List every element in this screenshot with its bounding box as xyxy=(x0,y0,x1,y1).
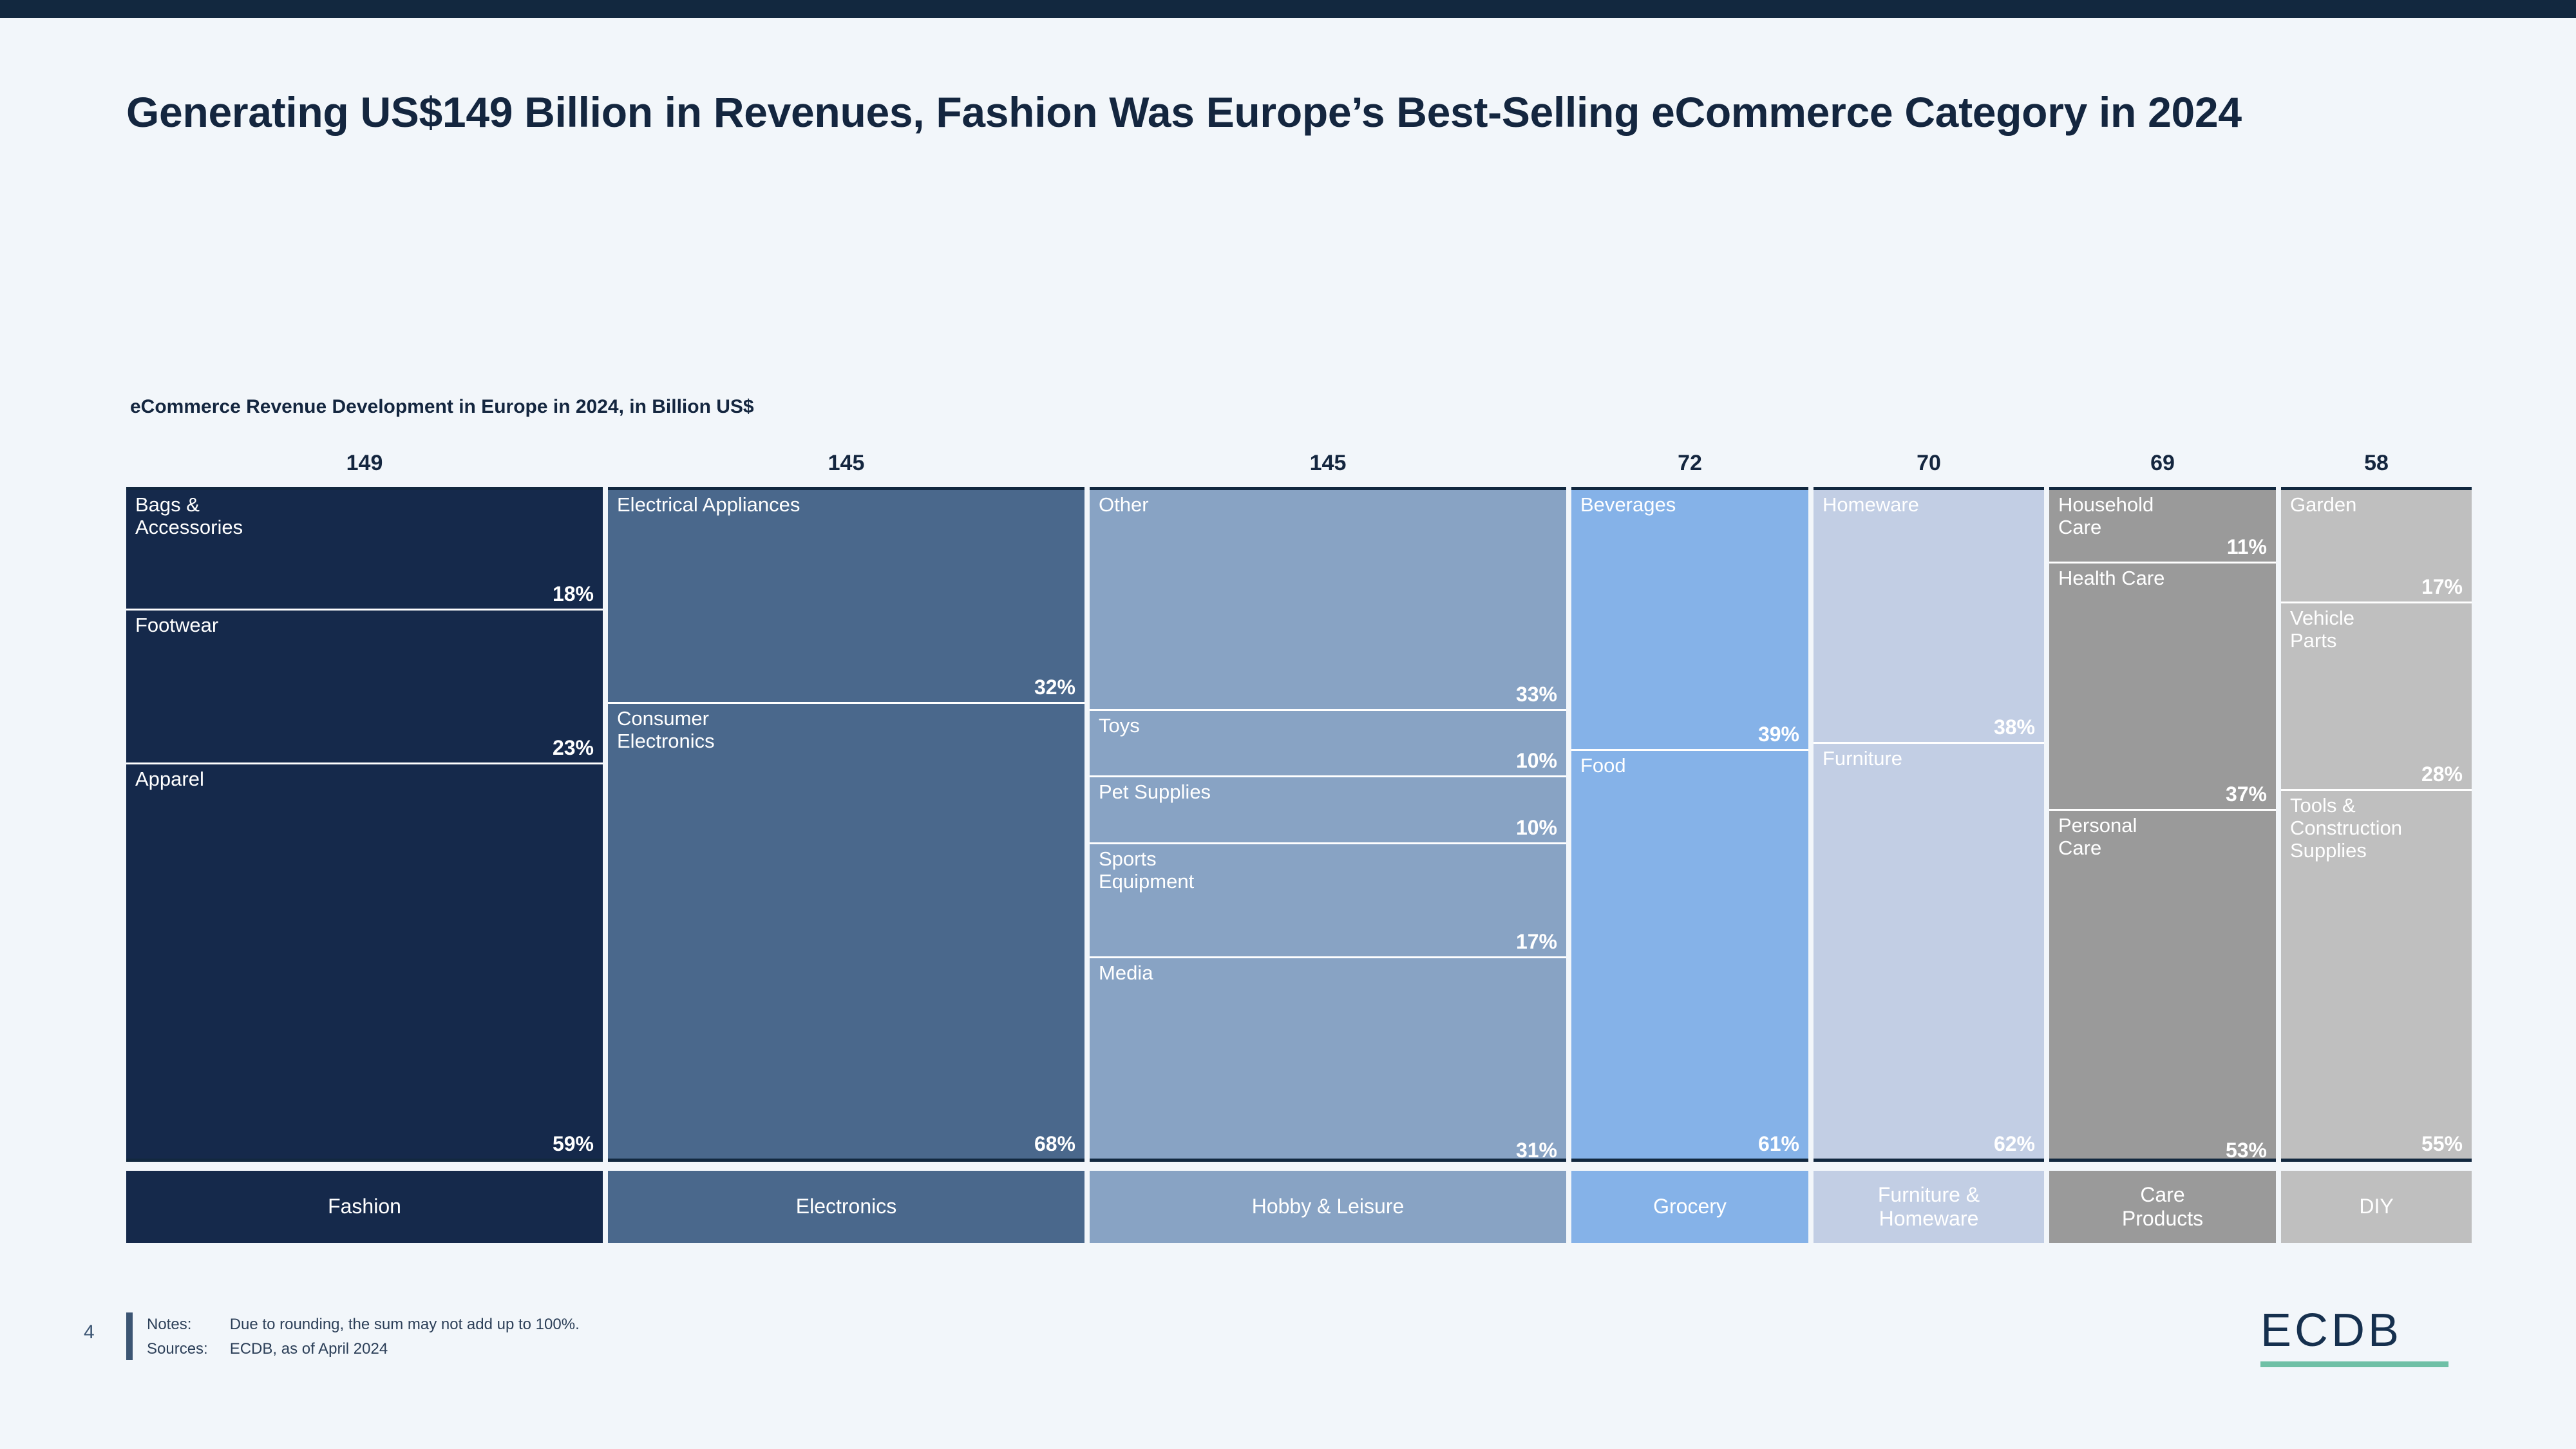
segment-label: Beverages xyxy=(1580,494,1804,516)
segment-vehicle-parts[interactable]: Vehicle Parts28% xyxy=(2281,603,2472,791)
column-category-label[interactable]: Care Products xyxy=(2049,1171,2276,1243)
segment-percentage: 17% xyxy=(1516,930,1557,954)
segment-label: Vehicle Parts xyxy=(2290,607,2468,652)
segment-percentage: 68% xyxy=(1034,1132,1075,1156)
column-category-label[interactable]: Hobby & Leisure xyxy=(1090,1171,1566,1243)
segment-percentage: 10% xyxy=(1516,816,1557,840)
column-category-label[interactable]: Grocery xyxy=(1571,1171,1808,1243)
segment-bags-accessories[interactable]: Bags & Accessories18% xyxy=(126,490,603,611)
segment-label: Personal Care xyxy=(2058,815,2272,859)
chart-column-furniture-homeware: 70Homeware38%Furniture62%Furniture & Hom… xyxy=(1814,444,2044,1243)
chart-column-grocery: 72Beverages39%Food61%Grocery xyxy=(1571,444,1808,1243)
column-stack: Beverages39%Food61% xyxy=(1571,487,1808,1162)
segment-personal-care[interactable]: Personal Care53% xyxy=(2049,811,2276,1162)
segment-label: Furniture xyxy=(1823,748,2040,770)
page-title: Generating US$149 Billion in Revenues, F… xyxy=(126,85,2329,139)
column-total: 149 xyxy=(126,444,603,487)
ecdb-logo-underline xyxy=(2260,1361,2448,1367)
segment-sports-equipment[interactable]: Sports Equipment17% xyxy=(1090,844,1566,958)
segment-label: Media xyxy=(1099,962,1562,985)
column-total: 58 xyxy=(2281,444,2472,487)
segment-percentage: 39% xyxy=(1758,723,1799,746)
segment-label: Household Care xyxy=(2058,494,2272,538)
ecdb-logo-text: ECDB xyxy=(2260,1307,2454,1354)
segment-household-care[interactable]: Household Care11% xyxy=(2049,490,2276,563)
segment-label: Pet Supplies xyxy=(1099,781,1562,804)
column-total: 69 xyxy=(2049,444,2276,487)
segment-percentage: 32% xyxy=(1034,676,1075,699)
column-stack: Household Care11%Health Care37%Personal … xyxy=(2049,487,2276,1162)
footer-notes: Notes: Due to rounding, the sum may not … xyxy=(147,1312,601,1361)
column-category-label[interactable]: Furniture & Homeware xyxy=(1814,1171,2044,1243)
segment-label: Other xyxy=(1099,494,1562,516)
chart-column-care-products: 69Household Care11%Health Care37%Persona… xyxy=(2049,444,2276,1243)
segment-percentage: 18% xyxy=(553,582,594,606)
segment-percentage: 55% xyxy=(2421,1132,2463,1156)
segment-consumer-electronics[interactable]: Consumer Electronics68% xyxy=(608,704,1084,1159)
segment-percentage: 59% xyxy=(553,1132,594,1156)
segment-label: Garden xyxy=(2290,494,2468,516)
ecdb-logo: ECDB xyxy=(2260,1307,2454,1367)
segment-percentage: 11% xyxy=(2227,535,2267,559)
column-total: 70 xyxy=(1814,444,2044,487)
segment-footwear[interactable]: Footwear23% xyxy=(126,611,603,764)
column-category-label[interactable]: DIY xyxy=(2281,1171,2472,1243)
segment-label: Footwear xyxy=(135,614,599,637)
segment-food[interactable]: Food61% xyxy=(1571,751,1808,1159)
segment-furniture[interactable]: Furniture62% xyxy=(1814,744,2044,1159)
segment-electrical-appliances[interactable]: Electrical Appliances32% xyxy=(608,490,1084,704)
segment-percentage: 61% xyxy=(1758,1132,1799,1156)
column-stack: Garden17%Vehicle Parts28%Tools & Constru… xyxy=(2281,487,2472,1162)
segment-health-care[interactable]: Health Care37% xyxy=(2049,563,2276,811)
segment-label: Consumer Electronics xyxy=(617,708,1081,752)
chart-column-fashion: 149Bags & Accessories18%Footwear23%Appar… xyxy=(126,444,603,1243)
segment-percentage: 62% xyxy=(1994,1132,2035,1156)
segment-percentage: 23% xyxy=(553,736,594,760)
column-category-label[interactable]: Fashion xyxy=(126,1171,603,1243)
sources-text: ECDB, as of April 2024 xyxy=(230,1337,601,1361)
notes-label: Notes: xyxy=(147,1312,230,1337)
notes-text: Due to rounding, the sum may not add up … xyxy=(230,1312,601,1337)
segment-percentage: 38% xyxy=(1994,715,2035,739)
segment-label: Homeware xyxy=(1823,494,2040,516)
footer-divider xyxy=(126,1312,133,1360)
sources-label: Sources: xyxy=(147,1337,230,1361)
segment-percentage: 37% xyxy=(2226,782,2267,806)
segment-pet-supplies[interactable]: Pet Supplies10% xyxy=(1090,777,1566,844)
segment-label: Electrical Appliances xyxy=(617,494,1081,516)
column-stack: Electrical Appliances32%Consumer Electro… xyxy=(608,487,1084,1162)
segment-toys[interactable]: Toys10% xyxy=(1090,711,1566,778)
segment-homeware[interactable]: Homeware38% xyxy=(1814,490,2044,744)
segment-percentage: 31% xyxy=(1516,1139,1557,1162)
segment-percentage: 28% xyxy=(2421,762,2463,786)
column-stack: Other33%Toys10%Pet Supplies10%Sports Equ… xyxy=(1090,487,1566,1162)
segment-apparel[interactable]: Apparel59% xyxy=(126,764,603,1159)
column-total: 145 xyxy=(1090,444,1566,487)
chart-column-hobby-leisure: 145Other33%Toys10%Pet Supplies10%Sports … xyxy=(1090,444,1566,1243)
column-total: 145 xyxy=(608,444,1084,487)
segment-other[interactable]: Other33% xyxy=(1090,490,1566,711)
top-accent-bar xyxy=(0,0,2576,18)
chart-subtitle: eCommerce Revenue Development in Europe … xyxy=(130,396,754,418)
segment-percentage: 53% xyxy=(2226,1139,2267,1162)
column-stack: Homeware38%Furniture62% xyxy=(1814,487,2044,1162)
segment-label: Apparel xyxy=(135,768,599,791)
column-stack: Bags & Accessories18%Footwear23%Apparel5… xyxy=(126,487,603,1162)
marimekko-chart: 149Bags & Accessories18%Footwear23%Appar… xyxy=(126,444,2458,1243)
segment-garden[interactable]: Garden17% xyxy=(2281,490,2472,603)
segment-percentage: 17% xyxy=(2421,575,2463,599)
segment-beverages[interactable]: Beverages39% xyxy=(1571,490,1808,751)
chart-column-diy: 58Garden17%Vehicle Parts28%Tools & Const… xyxy=(2281,444,2472,1243)
page-number: 4 xyxy=(84,1321,95,1343)
column-category-label[interactable]: Electronics xyxy=(608,1171,1084,1243)
column-total: 72 xyxy=(1571,444,1808,487)
slide-root: Generating US$149 Billion in Revenues, F… xyxy=(0,0,2576,1449)
segment-percentage: 33% xyxy=(1516,683,1557,706)
segment-label: Food xyxy=(1580,755,1804,777)
segment-percentage: 10% xyxy=(1516,749,1557,773)
segment-label: Sports Equipment xyxy=(1099,848,1562,893)
chart-column-electronics: 145Electrical Appliances32%Consumer Elec… xyxy=(608,444,1084,1243)
segment-label: Health Care xyxy=(2058,567,2272,590)
segment-tools-construction-supplies[interactable]: Tools & Construction Supplies55% xyxy=(2281,791,2472,1159)
segment-label: Toys xyxy=(1099,715,1562,737)
segment-media[interactable]: Media31% xyxy=(1090,958,1566,1162)
segment-label: Tools & Construction Supplies xyxy=(2290,795,2468,862)
segment-label: Bags & Accessories xyxy=(135,494,599,538)
